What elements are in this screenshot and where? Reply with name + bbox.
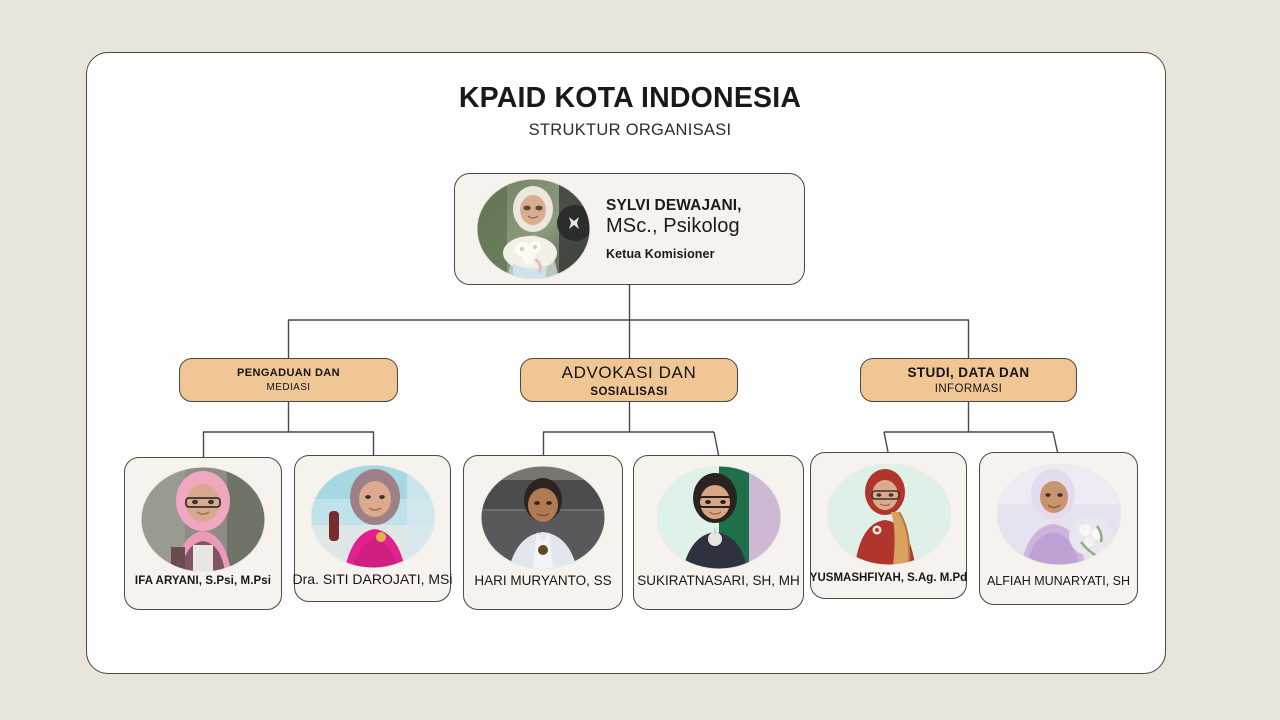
division-label-line1: STUDI, DATA DAN	[908, 365, 1030, 380]
member-portrait	[827, 464, 951, 565]
division-box-pengaduan-dan-mediasi[interactable]: PENGADUAN DAN MEDIASI	[179, 358, 398, 402]
member-portrait	[997, 464, 1121, 565]
member-name: Dra. SITI DAROJATI, MSi	[293, 571, 453, 587]
member-card[interactable]: YUSMASHFIYAH, S.Ag. M.Pd	[810, 452, 967, 599]
leader-name-line2: MSc., Psikolog	[606, 215, 742, 237]
member-portrait	[481, 466, 605, 569]
division-label-line1: PENGADUAN DAN	[237, 367, 340, 379]
division-label-line1: ADVOKASI DAN	[562, 363, 697, 383]
member-card[interactable]: ALFIAH MUNARYATI, SH	[979, 452, 1138, 605]
division-label-line2: MEDIASI	[267, 382, 311, 393]
division-label-line2: SOSIALISASI	[590, 386, 667, 398]
leader-card[interactable]: SYLVI DEWAJANI, MSc., Psikolog Ketua Kom…	[454, 173, 805, 285]
member-card[interactable]: SUKIRATNASARI, SH, MH	[633, 455, 804, 610]
member-card[interactable]: Dra. SITI DAROJATI, MSi	[294, 455, 451, 602]
member-name: ALFIAH MUNARYATI, SH	[987, 574, 1130, 588]
member-portrait	[311, 465, 435, 568]
member-portrait	[141, 467, 265, 572]
division-box-advokasi-dan-sosialisasi[interactable]: ADVOKASI DAN SOSIALISASI	[520, 358, 738, 402]
leader-text-block: SYLVI DEWAJANI, MSc., Psikolog Ketua Kom…	[606, 197, 742, 261]
division-box-studi-data-dan-informasi[interactable]: STUDI, DATA DAN INFORMASI	[860, 358, 1077, 402]
member-name: SUKIRATNASARI, SH, MH	[637, 573, 800, 589]
member-card[interactable]: IFA ARYANI, S.Psi, M.Psi	[124, 457, 282, 610]
member-card[interactable]: HARI MURYANTO, SS	[463, 455, 623, 610]
member-name: HARI MURYANTO, SS	[474, 573, 611, 589]
organization-chart-slide: KPAID KOTA INDONESIA STRUKTUR ORGANISASI	[0, 0, 1280, 720]
division-label-line2: INFORMASI	[935, 383, 1003, 395]
leader-name-line1: SYLVI DEWAJANI,	[606, 197, 742, 214]
leader-role: Ketua Komisioner	[606, 247, 742, 261]
member-name: IFA ARYANI, S.Psi, M.Psi	[135, 575, 271, 588]
leader-portrait	[477, 179, 590, 279]
member-portrait	[657, 466, 781, 569]
member-name: YUSMASHFIYAH, S.Ag. M.Pd	[789, 572, 989, 585]
